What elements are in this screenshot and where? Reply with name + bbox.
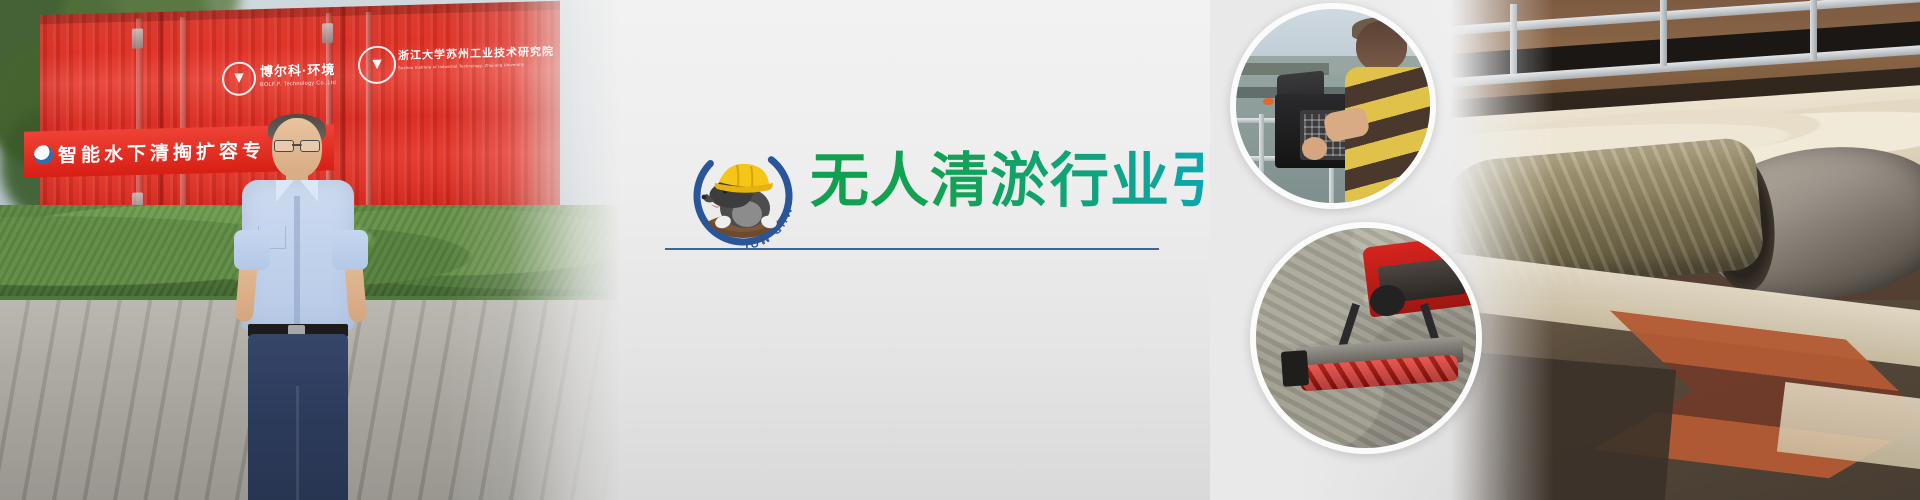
circle-photo-operator xyxy=(1230,3,1436,209)
circle-photo-dredging-robot-content xyxy=(1256,228,1476,448)
sleeve xyxy=(234,230,270,270)
circle-photo-operator-content xyxy=(1236,9,1430,203)
container-seam xyxy=(158,12,163,227)
shirt-placket xyxy=(294,196,300,324)
logo-glyph: ▼ xyxy=(231,70,247,86)
container-hinge xyxy=(132,28,143,48)
channel-shadow xyxy=(1450,351,1676,500)
container-company-name-1: 博尔科·环境 BOLF.P. Technology Co.,Ltd xyxy=(260,59,336,88)
container-company-name-1-zh: 博尔科·环境 xyxy=(260,59,336,80)
center-content: MUD MOLE 无人清淤行业引领者 xyxy=(660,0,1220,500)
divider-line xyxy=(665,248,1159,250)
handrail-post xyxy=(1810,0,1817,60)
handrail-post xyxy=(1510,4,1517,74)
container-company-name-2-zh: 浙江大学苏州工业技术研究院 xyxy=(398,43,554,63)
container-door-bar xyxy=(180,17,187,220)
circle-photo-dredging-robot xyxy=(1250,222,1482,454)
jeans xyxy=(248,334,348,500)
container-slogan-text: 智能水下清掏扩容专 xyxy=(58,135,265,167)
collar xyxy=(276,180,294,202)
container-door-bar xyxy=(136,18,143,221)
logo-glyph: ▼ xyxy=(369,57,385,73)
sleeve xyxy=(332,230,368,270)
sludge-pipe-photo xyxy=(1450,0,1920,500)
container-door-bar xyxy=(366,12,373,215)
slogan-mark-icon xyxy=(34,145,53,164)
hero-banner: ▼ 博尔科·环境 BOLF.P. Technology Co.,Ltd ▼ 浙江… xyxy=(0,0,1920,500)
container-hinge xyxy=(322,23,333,43)
right-photo-collage xyxy=(1210,0,1920,500)
person-executive xyxy=(236,118,366,500)
robot-auger-gearbox xyxy=(1281,350,1310,387)
handrail-post xyxy=(1660,0,1667,66)
handrail-post xyxy=(1259,114,1264,207)
operator-head xyxy=(1356,21,1406,71)
container-company-name-2: 浙江大学苏州工业技术研究院 Suzhou Institute of Indust… xyxy=(398,43,554,70)
glasses-icon xyxy=(274,140,320,150)
left-photo-red-container: ▼ 博尔科·环境 BOLF.P. Technology Co.,Ltd ▼ 浙江… xyxy=(0,0,620,500)
mud-mole-logo: MUD MOLE xyxy=(685,138,801,254)
collar xyxy=(300,180,318,202)
